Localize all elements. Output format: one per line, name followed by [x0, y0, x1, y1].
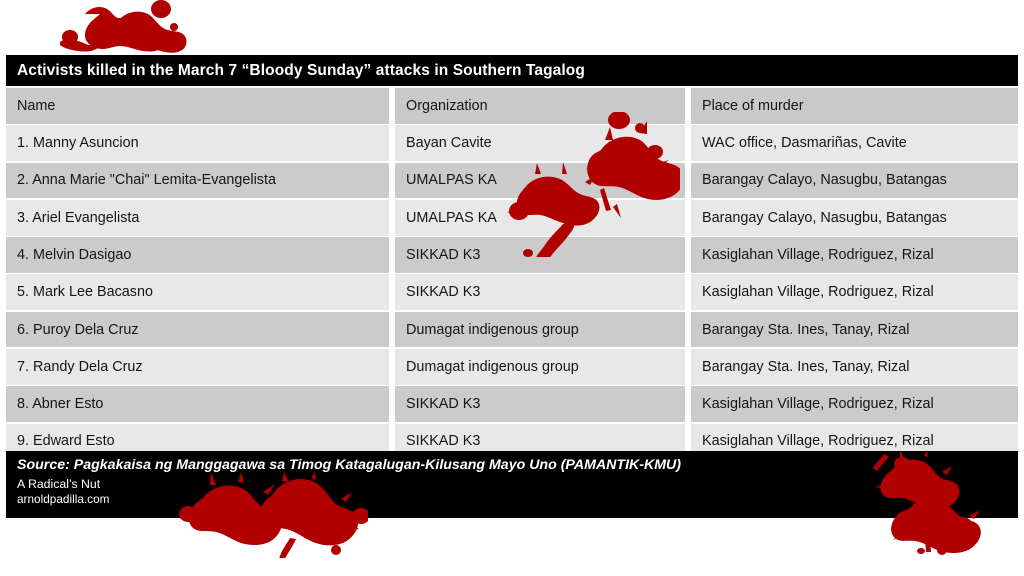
footer-source: Source: Pagkakaisa ng Manggagawa sa Timo… [6, 451, 1018, 473]
cell-place: Barangay Sta. Ines, Tanay, Rizal [691, 312, 1018, 348]
cell-name: 2. Anna Marie "Chai" Lemita-Evangelista [6, 163, 389, 199]
cell-place: Kasiglahan Village, Rodriguez, Rizal [691, 386, 1018, 422]
cell-place: WAC office, Dasmariñas, Cavite [691, 125, 1018, 161]
cell-name: 3. Ariel Evangelista [6, 200, 389, 236]
cell-organization: SIKKAD K3 [395, 274, 685, 310]
cell-organization: Bayan Cavite [395, 125, 685, 161]
footer-bar: Source: Pagkakaisa ng Manggagawa sa Timo… [6, 451, 1018, 518]
cell-organization: UMALPAS KA [395, 163, 685, 199]
table-row: 8. Abner Esto SIKKAD K3 Kasiglahan Villa… [6, 386, 1018, 422]
cell-place: Barangay Calayo, Nasugbu, Batangas [691, 163, 1018, 199]
column-header-organization: Organization [395, 88, 685, 124]
cell-name: 5. Mark Lee Bacasno [6, 274, 389, 310]
cell-name: 7. Randy Dela Cruz [6, 349, 389, 385]
column-header-place: Place of murder [691, 88, 1018, 124]
chart-title-bar: Activists killed in the March 7 “Bloody … [6, 55, 1018, 86]
table-header-row: Name Organization Place of murder [6, 88, 1018, 124]
table-row: 2. Anna Marie "Chai" Lemita-Evangelista … [6, 163, 1018, 199]
cell-organization: SIKKAD K3 [395, 237, 685, 273]
cell-place: Kasiglahan Village, Rodriguez, Rizal [691, 237, 1018, 273]
column-header-name: Name [6, 88, 389, 124]
table-row: 6. Puroy Dela Cruz Dumagat indigenous gr… [6, 312, 1018, 348]
table-row: 3. Ariel Evangelista UMALPAS KA Barangay… [6, 200, 1018, 236]
cell-organization: SIKKAD K3 [395, 386, 685, 422]
table-row: 7. Randy Dela Cruz Dumagat indigenous gr… [6, 349, 1018, 385]
activists-table: Name Organization Place of murder 1. Man… [6, 88, 1018, 461]
table-row: 1. Manny Asuncion Bayan Cavite WAC offic… [6, 125, 1018, 161]
cell-organization: UMALPAS KA [395, 200, 685, 236]
page-title: Activists killed in the March 7 “Bloody … [6, 62, 585, 80]
footer-brand-name: A Radical’s Nut [17, 477, 100, 491]
cell-name: 4. Melvin Dasigao [6, 237, 389, 273]
blood-splatter-top-left-icon [30, 0, 210, 58]
table-row: 5. Mark Lee Bacasno SIKKAD K3 Kasiglahan… [6, 274, 1018, 310]
cell-name: 6. Puroy Dela Cruz [6, 312, 389, 348]
cell-place: Kasiglahan Village, Rodriguez, Rizal [691, 274, 1018, 310]
footer-brand: A Radical’s Nut arnoldpadilla.com [6, 473, 1018, 506]
cell-organization: Dumagat indigenous group [395, 312, 685, 348]
infographic-canvas: Activists killed in the March 7 “Bloody … [0, 0, 1024, 576]
cell-organization: Dumagat indigenous group [395, 349, 685, 385]
cell-place: Barangay Calayo, Nasugbu, Batangas [691, 200, 1018, 236]
cell-name: 8. Abner Esto [6, 386, 389, 422]
cell-name: 1. Manny Asuncion [6, 125, 389, 161]
table-row: 4. Melvin Dasigao SIKKAD K3 Kasiglahan V… [6, 237, 1018, 273]
footer-site-url[interactable]: arnoldpadilla.com [17, 492, 1018, 506]
cell-place: Barangay Sta. Ines, Tanay, Rizal [691, 349, 1018, 385]
